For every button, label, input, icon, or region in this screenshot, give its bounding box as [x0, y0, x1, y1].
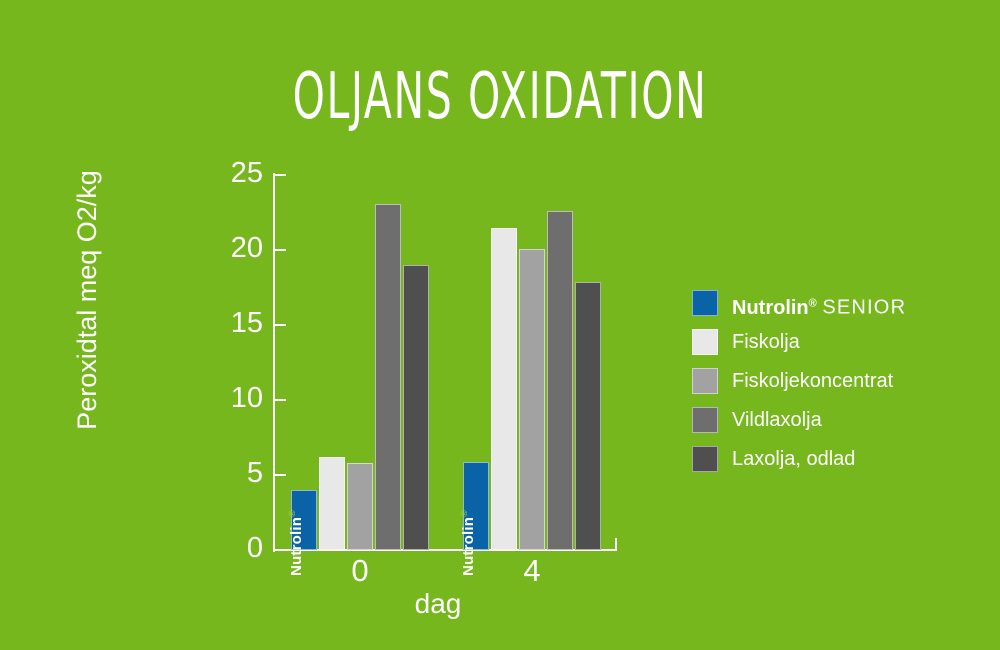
bar-4-group-4: [547, 211, 573, 550]
legend-label-3: Fiskoljekoncentrat: [732, 367, 893, 395]
legend-item-5[interactable]: Laxolja, odlad: [692, 446, 992, 485]
legend-swatch-5: [692, 446, 718, 472]
y-axis-tick-label-20: 20: [203, 234, 263, 263]
bar-2-group-0: [319, 457, 345, 550]
legend: Nutrolin® SENIORFiskoljaFiskoljekoncentr…: [692, 290, 992, 485]
x-axis-group-label-0: 0: [300, 553, 420, 589]
legend-swatch-2: [692, 329, 718, 355]
chart-canvas: OLJANS OXIDATION 2520151050 Peroxidtal m…: [0, 0, 1000, 650]
legend-label-2: Fiskolja: [732, 328, 800, 356]
y-axis-tick-label-10: 10: [203, 384, 263, 413]
x-axis-group-label-4: 4: [472, 553, 592, 589]
legend-swatch-4: [692, 407, 718, 433]
bar-3-group-0: [347, 463, 373, 550]
legend-item-4[interactable]: Vildlaxolja: [692, 407, 992, 446]
bar-1-group-0: Nutrolin®: [291, 490, 317, 550]
plot-area: Nutrolin®Nutrolin®: [273, 175, 615, 550]
y-axis-tick-labels: 2520151050: [195, 0, 263, 650]
legend-item-2[interactable]: Fiskolja: [692, 329, 992, 368]
legend-label-1: Nutrolin® SENIOR: [732, 289, 906, 322]
x-axis-end-tick-1: [273, 538, 275, 551]
y-axis-tick-label-5: 5: [203, 459, 263, 488]
bar-3-group-4: [519, 249, 545, 551]
y-axis-title: Peroxidtal meq O2/kg: [72, 100, 102, 500]
bar-5-group-4: [575, 282, 601, 551]
bar-5-group-0: [403, 265, 429, 550]
bar-4-group-0: [375, 204, 401, 551]
bar-2-group-4: [491, 228, 517, 551]
legend-label-5: Laxolja, odlad: [732, 445, 855, 473]
bar-1-group-4: Nutrolin®: [463, 462, 489, 551]
legend-swatch-1: [692, 290, 718, 316]
x-axis-end-tick-2: [615, 538, 617, 551]
y-axis-tick-label-0: 0: [203, 534, 263, 563]
legend-label-4: Vildlaxolja: [732, 406, 822, 434]
y-axis-tick-label-15: 15: [203, 309, 263, 338]
legend-item-1[interactable]: Nutrolin® SENIOR: [692, 290, 992, 329]
legend-swatch-3: [692, 368, 718, 394]
x-axis-title: dag: [378, 588, 498, 620]
legend-item-3[interactable]: Fiskoljekoncentrat: [692, 368, 992, 407]
y-axis-tick-label-25: 25: [203, 159, 263, 188]
